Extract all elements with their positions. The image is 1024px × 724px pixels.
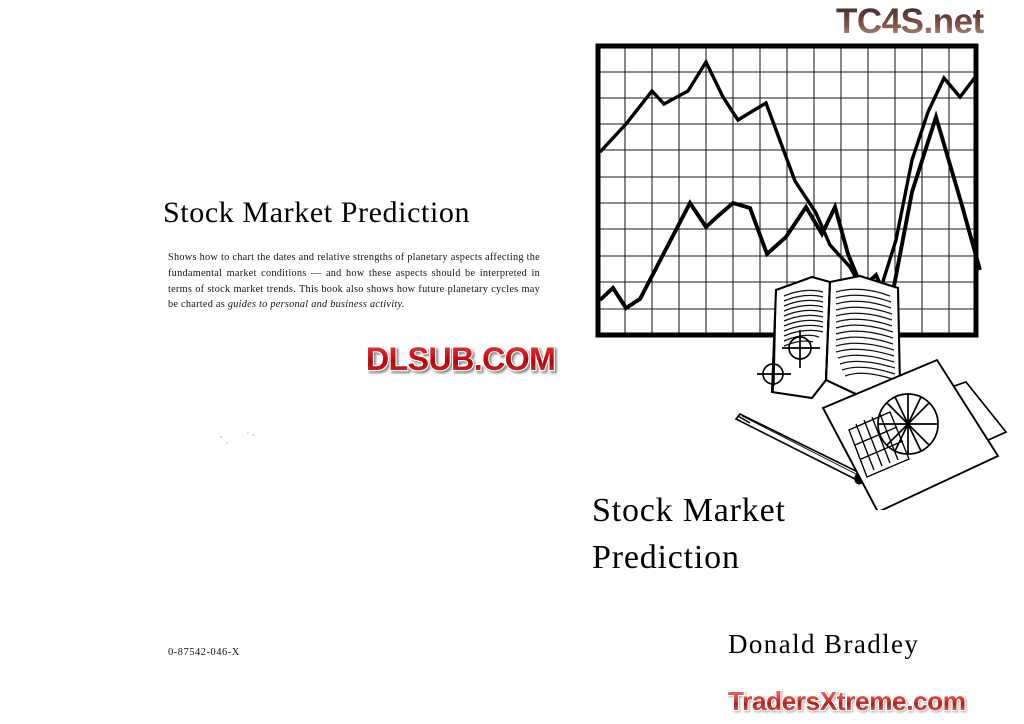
- front-cover-author: Donald Bradley: [728, 629, 919, 660]
- watermark-dlsub: DLSUB.COM: [366, 341, 555, 378]
- isbn-number: 0-87542-046-X: [168, 647, 240, 658]
- scan-speck: [220, 436, 223, 438]
- book-cover: Stock Market Prediction Shows how to cha…: [0, 0, 1024, 724]
- scan-speck: [226, 442, 228, 444]
- back-cover-blurb: Shows how to chart the dates and relativ…: [168, 250, 540, 313]
- watermark-tradersxtreme: TradersXtreme.com: [728, 686, 966, 717]
- cover-illustration: [560, 0, 1024, 510]
- front-cover-title: Stock Market Prediction: [592, 487, 786, 581]
- open-book: [757, 276, 900, 398]
- scan-speck: [252, 434, 255, 436]
- chart-wheel-icon: [878, 394, 938, 454]
- watermark-tc4s: TC4S.net: [836, 2, 984, 42]
- back-cover-title: Stock Market Prediction: [163, 196, 470, 230]
- back-cover-blurb-emphasis: guides to personal and business activity…: [228, 299, 405, 310]
- scan-speck: [247, 432, 249, 434]
- front-cover-panel: Stock Market Prediction Donald Bradley: [560, 0, 1024, 724]
